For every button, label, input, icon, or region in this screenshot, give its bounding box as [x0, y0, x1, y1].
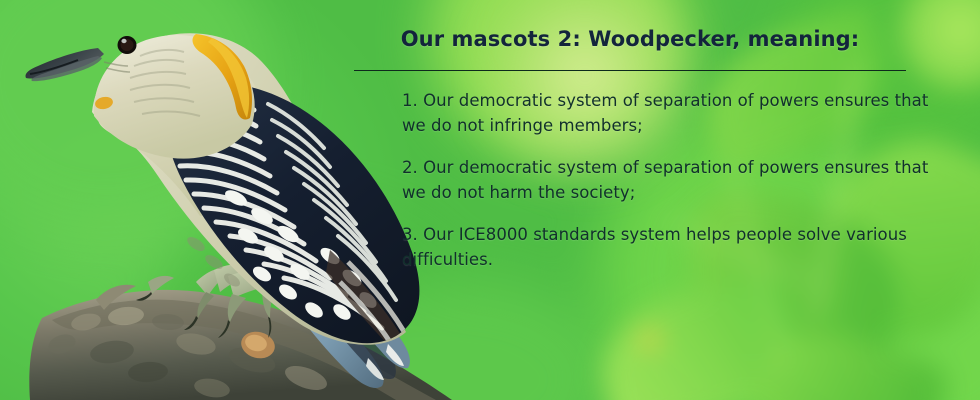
woodpecker-head — [26, 34, 255, 159]
title-divider — [354, 70, 906, 71]
list-item: 2. Our democratic system of separation o… — [402, 155, 932, 205]
mascot-banner: Our mascots 2: Woodpecker, meaning: 1. O… — [0, 0, 980, 400]
page-title: Our mascots 2: Woodpecker, meaning: — [352, 27, 908, 51]
mascot-meaning-list: 1. Our democratic system of separation o… — [402, 88, 932, 272]
list-item: 3. Our ICE8000 standards system helps pe… — [402, 222, 932, 272]
list-item: 1. Our democratic system of separation o… — [402, 88, 932, 138]
text-panel: Our mascots 2: Woodpecker, meaning: 1. O… — [352, 0, 932, 400]
